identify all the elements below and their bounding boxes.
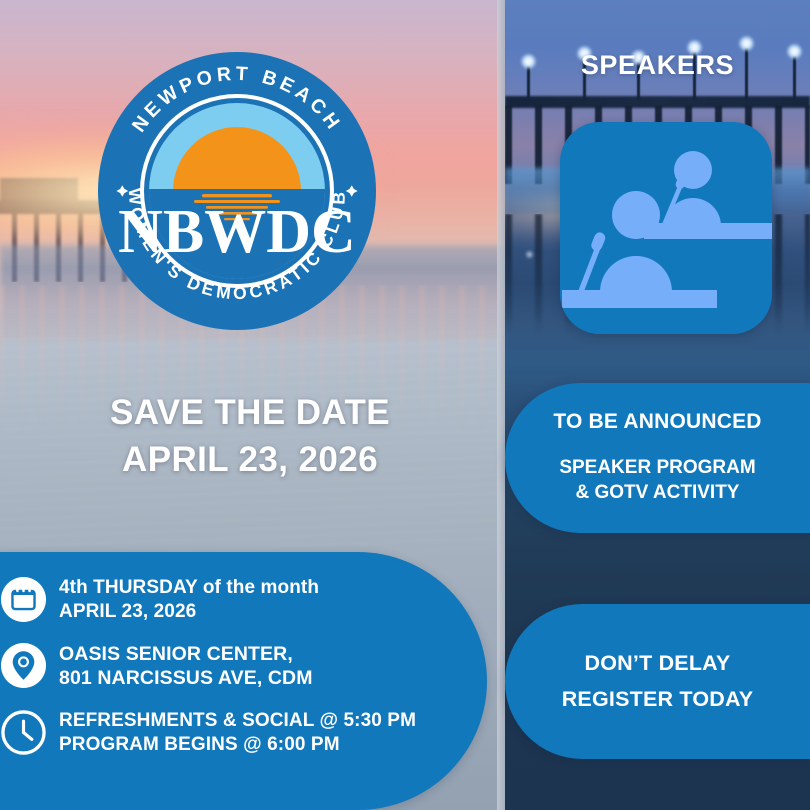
detail-row-location-text: OASIS SENIOR CENTER, 801 NARCISSUS AVE, … — [59, 640, 313, 691]
speaker-sub-line2: & GOTV ACTIVITY — [559, 481, 755, 506]
detail-row-date-text: 4th THURSDAY of the month APRIL 23, 2026 — [59, 574, 319, 624]
location-pin-icon — [0, 642, 47, 689]
calendar-icon — [0, 576, 47, 623]
panel-divider — [497, 0, 505, 810]
detail-time-line1: REFRESHMENTS & SOCIAL @ 5:30 PM — [59, 709, 416, 733]
register-cta-line2: REGISTER TODAY — [562, 682, 754, 717]
register-cta-line1: DON’T DELAY — [585, 646, 731, 681]
clock-icon — [0, 709, 47, 756]
detail-row-location: OASIS SENIOR CENTER, 801 NARCISSUS AVE, … — [0, 640, 430, 691]
save-the-date-line1: SAVE THE DATE — [60, 390, 440, 437]
speaker-announcement-panel: TO BE ANNOUNCED SPEAKER PROGRAM & GOTV A… — [505, 383, 810, 533]
detail-time-line2: PROGRAM BEGINS @ 6:00 PM — [59, 733, 416, 757]
nbwdc-logo: NEWPORT BEACH WOMEN'S DEMOCRATIC CLUB NB… — [98, 52, 376, 330]
register-cta-panel[interactable]: DON’T DELAY REGISTER TODAY — [505, 604, 810, 759]
detail-date-line1: 4th THURSDAY of the month — [59, 576, 319, 600]
detail-row-time: REFRESHMENTS & SOCIAL @ 5:30 PM PROGRAM … — [0, 707, 430, 757]
detail-location-line1: OASIS SENIOR CENTER, — [59, 642, 313, 667]
speakers-heading: SPEAKERS — [505, 50, 810, 81]
speaker-announcement-sub: SPEAKER PROGRAM & GOTV ACTIVITY — [559, 456, 755, 505]
detail-row-date: 4th THURSDAY of the month APRIL 23, 2026 — [0, 574, 430, 624]
logo-monogram: NBWDC — [118, 198, 356, 266]
detail-date-line2: APRIL 23, 2026 — [59, 600, 319, 624]
save-the-date-line2: APRIL 23, 2026 — [60, 437, 440, 484]
podium-speakers-icon — [560, 122, 772, 334]
save-the-date-block: SAVE THE DATE APRIL 23, 2026 — [60, 390, 440, 483]
event-details-panel: 4th THURSDAY of the month APRIL 23, 2026… — [0, 552, 487, 810]
lamp-reflection — [525, 250, 534, 259]
speaker-sub-line1: SPEAKER PROGRAM — [559, 456, 755, 481]
speaker-announcement-headline: TO BE ANNOUNCED — [553, 410, 761, 434]
detail-location-line2: 801 NARCISSUS AVE, CDM — [59, 666, 313, 691]
save-the-date-flyer: NEWPORT BEACH WOMEN'S DEMOCRATIC CLUB NB… — [0, 0, 810, 810]
detail-row-time-text: REFRESHMENTS & SOCIAL @ 5:30 PM PROGRAM … — [59, 707, 416, 757]
